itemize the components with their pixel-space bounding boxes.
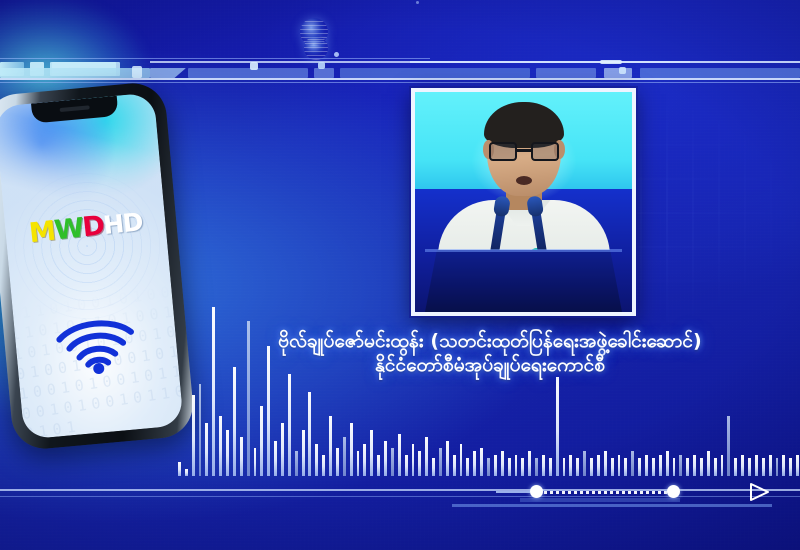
audio-waveform[interactable]	[178, 300, 800, 476]
bottom-divider-line	[0, 489, 800, 491]
waveform-bar	[260, 406, 263, 476]
waveform-bar	[611, 458, 614, 476]
slider-handle-start[interactable]	[530, 485, 543, 498]
waveform-bar	[329, 416, 332, 476]
waveform-bar	[480, 448, 483, 476]
phone-screen: 1011010010100101101001010010110100101001…	[0, 92, 184, 439]
waveform-bar	[192, 395, 195, 476]
waveform-bar	[425, 437, 428, 476]
waveform-bar	[254, 448, 257, 476]
waveform-bar	[226, 430, 229, 476]
waveform-bar	[405, 455, 408, 476]
waveform-bar	[624, 458, 627, 476]
waveform-bar	[590, 458, 593, 476]
phone-mockup: 1011010010100101101001010010110100101001…	[0, 80, 196, 451]
logo-letter-w: W	[53, 213, 84, 247]
waveform-bar	[604, 451, 607, 476]
waveform-bar	[391, 448, 394, 476]
waveform-bar	[707, 451, 710, 476]
progress-slider[interactable]	[530, 484, 680, 500]
waveform-bar	[281, 423, 284, 476]
waveform-bar	[384, 441, 387, 476]
waveform-bar	[721, 455, 724, 476]
waveform-bar	[233, 367, 236, 476]
waveform-bar	[631, 451, 634, 476]
waveform-bar	[432, 458, 435, 476]
waveform-bar	[487, 458, 490, 476]
waveform-bar	[734, 458, 737, 476]
waveform-bar	[308, 392, 311, 476]
speaker-mouth	[516, 176, 532, 185]
waveform-bar	[363, 444, 366, 476]
waveform-bar	[439, 448, 442, 476]
waveform-bar	[178, 462, 181, 476]
waveform-bar	[288, 374, 291, 476]
waveform-bar	[446, 441, 449, 476]
waveform-bar	[357, 451, 360, 476]
waveform-bar	[508, 458, 511, 476]
slider-handle-end[interactable]	[667, 485, 680, 498]
waveform-bar	[515, 455, 518, 476]
waveform-bar	[638, 458, 641, 476]
logo-letter-m: M	[28, 216, 57, 250]
waveform-bar	[494, 455, 497, 476]
waveform-bar	[205, 423, 208, 476]
speaker-portrait-image	[415, 92, 632, 312]
waveform-bar	[473, 451, 476, 476]
slider-track[interactable]	[538, 491, 672, 494]
broadcast-lower-third-screen: 1011010010100101101001010010110100101001…	[0, 0, 800, 550]
waveform-bar	[240, 437, 243, 476]
waveform-bar	[274, 441, 277, 476]
waveform-bar	[597, 455, 600, 476]
waveform-bar	[556, 377, 559, 476]
waveform-bar	[370, 430, 373, 476]
waveform-bar	[769, 455, 772, 476]
waveform-bar	[700, 458, 703, 476]
waveform-bar	[412, 444, 415, 476]
waveform-bar	[466, 458, 469, 476]
waveform-bar	[322, 455, 325, 476]
waveform-bar	[542, 455, 545, 476]
waveform-bar	[776, 458, 779, 476]
waveform-bar	[336, 448, 339, 476]
waveform-bar	[302, 430, 305, 476]
waveform-bar	[748, 458, 751, 476]
waveform-bar	[501, 451, 504, 476]
bottom-divider-line-secondary	[0, 496, 800, 497]
waveform-bar	[247, 321, 250, 476]
waveform-bar	[219, 416, 222, 476]
waveform-bar	[549, 458, 552, 476]
waveform-bar	[398, 434, 401, 476]
waveform-bar	[343, 437, 346, 476]
waveform-bar	[350, 423, 353, 476]
logo-suffix-hd: HD	[102, 207, 144, 240]
waveform-bar	[521, 458, 524, 476]
waveform-bar	[762, 458, 765, 476]
waveform-bar	[528, 451, 531, 476]
wifi-icon	[52, 309, 140, 379]
waveform-bar	[576, 458, 579, 476]
waveform-bar	[652, 458, 655, 476]
waveform-bar	[295, 451, 298, 476]
speaker-portrait-frame	[411, 88, 636, 316]
waveform-bar	[645, 455, 648, 476]
waveform-bar	[453, 455, 456, 476]
waveform-bar	[377, 455, 380, 476]
waveform-bar	[618, 455, 621, 476]
waveform-bar	[583, 451, 586, 476]
waveform-bar	[782, 455, 785, 476]
waveform-bar	[460, 444, 463, 476]
waveform-bar	[686, 458, 689, 476]
play-button[interactable]	[748, 482, 770, 502]
podium-edge	[425, 249, 622, 252]
speaker-glasses	[489, 142, 559, 161]
waveform-bar	[315, 444, 318, 476]
slider-leading-track	[496, 491, 530, 493]
waveform-bar	[755, 455, 758, 476]
waveform-bar	[199, 384, 202, 476]
waveform-bar	[741, 455, 744, 476]
waveform-bar	[666, 451, 669, 476]
waveform-bar	[267, 346, 270, 476]
waveform-bar	[673, 458, 676, 476]
waveform-bar	[212, 307, 215, 476]
bottom-accent-bar	[452, 504, 772, 507]
waveform-bar	[693, 455, 696, 476]
waveform-bar	[563, 458, 566, 476]
waveform-bar	[727, 416, 730, 476]
waveform-bar	[185, 469, 188, 476]
waveform-bar	[714, 458, 717, 476]
waveform-bar	[535, 458, 538, 476]
waveform-bar	[796, 455, 799, 476]
waveform-bar	[789, 458, 792, 476]
waveform-bar	[569, 455, 572, 476]
waveform-bar	[418, 451, 421, 476]
waveform-bar	[679, 455, 682, 476]
waveform-bar	[659, 455, 662, 476]
